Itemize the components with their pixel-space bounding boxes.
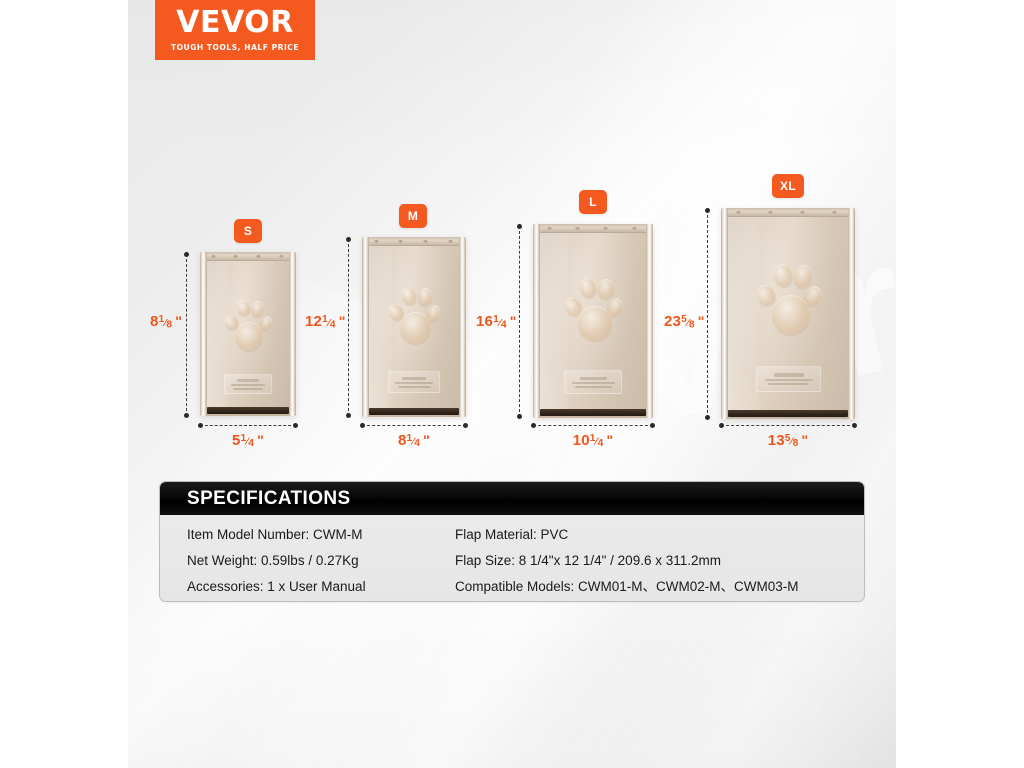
plaque-text-line [572, 382, 615, 384]
product-label-plaque [756, 366, 821, 392]
screw-hole [423, 240, 428, 243]
door-frame-left [362, 237, 369, 417]
size-badge-s: S [234, 219, 262, 243]
spec-item-flap-size: Flap Size: 8 1/4"x 12 1/4" / 209.6 x 311… [455, 550, 864, 572]
brand-tagline: TOUGH TOOLS, HALF PRICE [171, 43, 299, 52]
height-dimension-line-s [186, 254, 187, 416]
plaque-text-line [231, 384, 265, 386]
door-weather-strip [207, 407, 289, 414]
door-frame-left [533, 224, 540, 418]
height-dimension-label-l: 161⁄4" [476, 313, 513, 331]
plaque-text-line [233, 388, 263, 390]
width-dimension-line-m [362, 425, 466, 426]
plaque-text-line [575, 386, 612, 388]
specifications-left-column: Item Model Number: CWM-M Net Weight: 0.5… [187, 524, 455, 602]
size-badge-l: L [579, 190, 607, 214]
brand-logo: VEVOR TOUGH TOOLS, HALF PRICE [155, 0, 315, 60]
specifications-body: Item Model Number: CWM-M Net Weight: 0.5… [160, 515, 864, 602]
door-frame-right [646, 224, 653, 418]
screw-hole [575, 227, 580, 230]
height-dimension-line-l [519, 226, 520, 417]
pet-door-panel-xl [721, 208, 855, 419]
product-label-plaque [388, 371, 440, 393]
height-dimension-line-xl [707, 210, 708, 418]
plaque-text-line [398, 386, 431, 388]
screw-hole [736, 211, 741, 214]
width-dimension-line-s [200, 425, 296, 426]
brand-name: VEVOR [176, 8, 294, 38]
width-dimension-label-l: 101⁄4" [573, 432, 614, 450]
height-dimension-label-s: 81⁄8" [150, 313, 180, 331]
spec-item-model-number: Item Model Number: CWM-M [187, 524, 455, 546]
screw-hole [448, 240, 453, 243]
spec-item-flap-material: Flap Material: PVC [455, 524, 864, 546]
plaque-text-line [580, 377, 607, 380]
screw-hole [800, 211, 805, 214]
door-weather-strip [369, 408, 459, 415]
width-dimension-line-l [533, 425, 653, 426]
specifications-title: SPECIFICATIONS [187, 488, 351, 510]
screw-hole [279, 255, 284, 258]
spec-item-accessories: Accessories: 1 x User Manual [187, 576, 455, 598]
pet-door-panel-m [362, 237, 466, 417]
spec-item-compatible-models: Compatible Models: CWM01-M、CWM02-M、CWM03… [455, 576, 864, 598]
door-frame-left [721, 208, 728, 419]
pet-door-panel-l [533, 224, 653, 418]
door-frame-right [848, 208, 855, 419]
screw-hole [374, 240, 379, 243]
plaque-text-line [774, 373, 804, 377]
door-top-rail [200, 252, 296, 261]
plaque-text-line [402, 377, 426, 380]
size-badge-xl: XL [772, 174, 804, 198]
door-weather-strip [728, 410, 848, 417]
specifications-header: SPECIFICATIONS [160, 482, 864, 515]
screw-hole [398, 240, 403, 243]
plaque-text-line [768, 383, 809, 385]
product-label-plaque [224, 374, 272, 394]
plaque-text-line [395, 382, 433, 384]
width-dimension-label-xl: 135⁄8" [768, 432, 809, 450]
screw-hole [768, 211, 773, 214]
flap-sheen [728, 217, 759, 410]
width-dimension-line-xl [721, 425, 855, 426]
door-frame-left [200, 252, 207, 416]
width-dimension-label-m: 81⁄4" [398, 432, 430, 450]
product-label-plaque [564, 370, 622, 394]
door-weather-strip [540, 409, 646, 416]
screw-hole [233, 255, 238, 258]
screw-hole [547, 227, 552, 230]
spec-item-net-weight: Net Weight: 0.59lbs / 0.27Kg [187, 550, 455, 572]
specifications-right-column: Flap Material: PVC Flap Size: 8 1/4"x 12… [455, 524, 864, 602]
door-top-rail [533, 224, 653, 233]
specifications-panel: SPECIFICATIONS Item Model Number: CWM-M … [159, 481, 865, 602]
height-dimension-label-xl: 235⁄8" [664, 313, 701, 331]
screw-hole [832, 211, 837, 214]
plaque-text-line [237, 379, 259, 382]
door-frame-right [459, 237, 466, 417]
plaque-text-line [765, 379, 813, 381]
door-top-rail [362, 237, 466, 246]
product-infographic: Vevor VEVOR TOUGH TOOLS, HALF PRICE S [0, 0, 1024, 768]
screw-hole [256, 255, 261, 258]
screw-hole [211, 255, 216, 258]
door-top-rail [721, 208, 855, 217]
width-dimension-label-s: 51⁄4" [232, 432, 264, 450]
screw-hole [603, 227, 608, 230]
door-frame-right [289, 252, 296, 416]
size-badge-m: M [399, 204, 427, 228]
height-dimension-label-m: 121⁄4" [305, 313, 342, 331]
screw-hole [632, 227, 637, 230]
pet-door-panel-s [200, 252, 296, 416]
height-dimension-line-m [348, 239, 349, 416]
